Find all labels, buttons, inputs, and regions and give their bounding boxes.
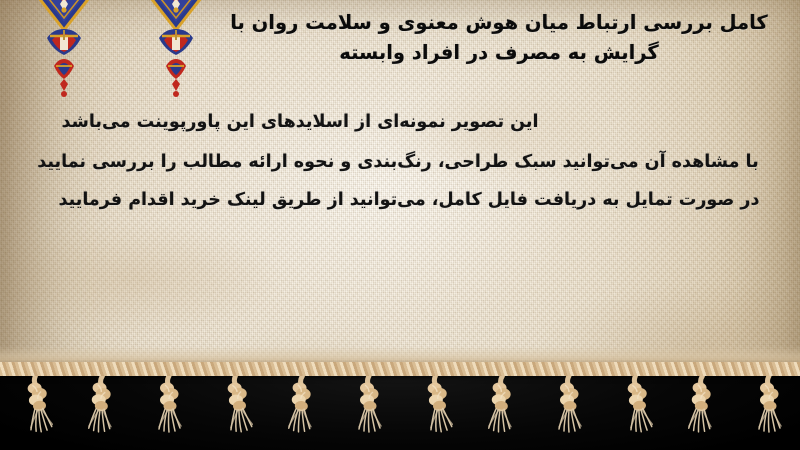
fringe-tassel <box>352 376 386 450</box>
slide-canvas: کامل بررسی ارتباط میان هوش معنوی و سلامت… <box>0 0 800 450</box>
fringe-tassel <box>152 376 186 450</box>
slide-title-line-2: گرایش به مصرف در افراد وابسته <box>216 38 782 68</box>
fringe-tassel <box>485 376 519 450</box>
slide-title: کامل بررسی ارتباط میان هوش معنوی و سلامت… <box>216 8 782 68</box>
body-line-1: این تصویر نمونه‌ای از اسلایدهای این پاور… <box>12 110 588 134</box>
body-line-3: در صورت تمایل به دریافت فایل کامل، می‌تو… <box>12 188 800 212</box>
fringe-tassel <box>752 376 786 450</box>
carpet-fringe <box>0 330 800 450</box>
carpet-medallion-icon-1 <box>8 0 120 114</box>
fringe-tassel <box>685 376 719 450</box>
slide-title-line-1: کامل بررسی ارتباط میان هوش معنوی و سلامت… <box>216 8 782 38</box>
fringe-tassel <box>85 376 119 450</box>
fringe-tassel <box>19 376 53 450</box>
fringe-tassel <box>219 376 253 450</box>
fringe-tassel <box>619 376 653 450</box>
fringe-tassel <box>552 376 586 450</box>
fringe-tassel <box>285 376 319 450</box>
fringe-tassel <box>419 376 453 450</box>
body-line-2: با مشاهده آن می‌توانید سبک طراحی، رنگ‌بن… <box>12 150 784 174</box>
slide-body: این تصویر نمونه‌ای از اسلایدهای این پاور… <box>12 110 788 212</box>
